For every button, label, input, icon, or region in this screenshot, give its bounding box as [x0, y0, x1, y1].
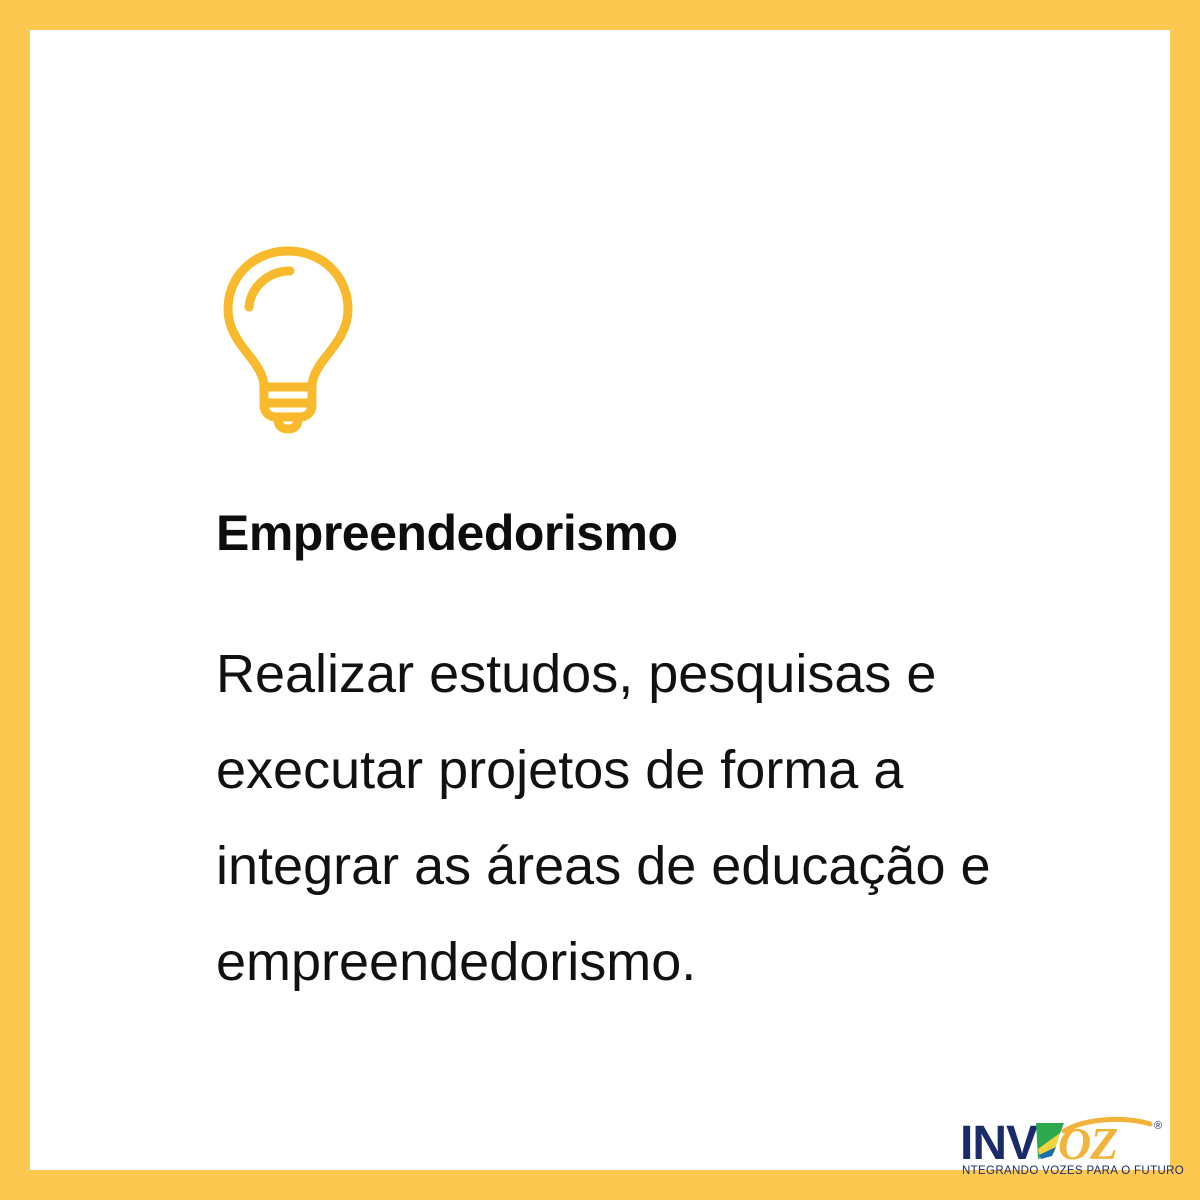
lightbulb-icon [218, 245, 358, 435]
body-line-2: executar projetos de forma a [216, 722, 1096, 818]
body-line-1: Realizar estudos, pesquisas e [216, 626, 1096, 722]
content-card: Empreendedorismo Realizar estudos, pesqu… [30, 30, 1170, 1170]
invoz-wordmark: INV OZ ® [960, 1115, 1172, 1169]
body-line-3: integrar as áreas de educação e [216, 818, 1096, 914]
invoz-logo: INV OZ ® NTEGRANDO VOZES PARA O FUTURO [960, 1115, 1172, 1193]
body-line-4: empreendedorismo. [216, 914, 1096, 1010]
page-title: Empreendedorismo [216, 504, 678, 562]
svg-text:INV: INV [960, 1117, 1038, 1169]
svg-text:OZ: OZ [1058, 1118, 1117, 1169]
logo-tagline: NTEGRANDO VOZES PARA O FUTURO [962, 1165, 1170, 1177]
body-paragraph: Realizar estudos, pesquisas e executar p… [216, 626, 1096, 1010]
svg-text:®: ® [1154, 1120, 1162, 1132]
poster-canvas: Empreendedorismo Realizar estudos, pesqu… [0, 0, 1200, 1200]
